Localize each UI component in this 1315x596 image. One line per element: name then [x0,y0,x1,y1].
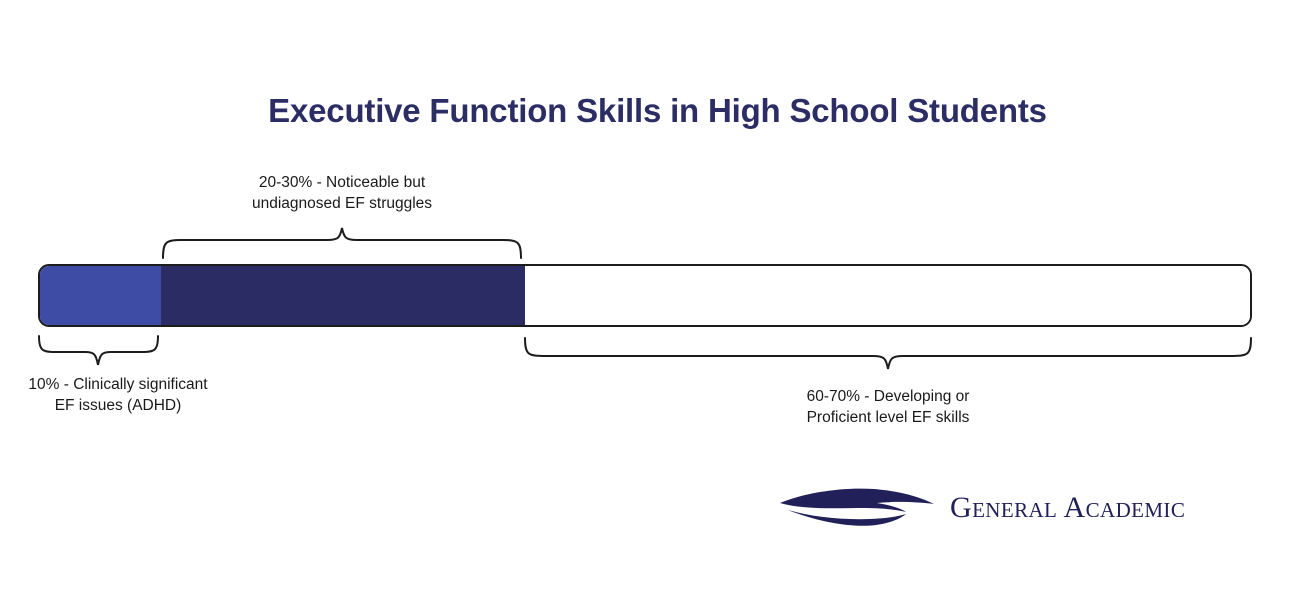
brace-clinical [39,336,158,365]
logo-wordmark: General Academic [950,491,1185,525]
stacked-bar-track [38,264,1252,327]
annotation-proficient-line2: Proficient level EF skills [738,407,1038,428]
bar-segment-undiagnosed [161,266,525,325]
annotation-proficient-line1: 60-70% - Developing or [807,388,970,405]
annotation-clinical: 10% - Clinically significant EF issues (… [0,374,236,416]
annotation-undiagnosed-line1: 20-30% - Noticeable but [259,174,425,191]
bar-segment-clinical [40,266,161,325]
annotation-undiagnosed: 20-30% - Noticeable but undiagnosed EF s… [192,172,492,214]
brand-logo: General Academic [778,483,1238,533]
annotation-undiagnosed-line2: undiagnosed EF struggles [192,193,492,214]
annotation-clinical-line1: 10% - Clinically significant [28,376,207,393]
page-title: Executive Function Skills in High School… [0,92,1315,130]
annotation-clinical-line2: EF issues (ADHD) [0,395,236,416]
annotation-proficient: 60-70% - Developing or Proficient level … [738,386,1038,428]
brace-proficient [525,338,1251,369]
swoosh-bird-icon [778,486,936,530]
brace-undiagnosed [163,228,521,258]
bar-segment-proficient [525,266,1252,325]
